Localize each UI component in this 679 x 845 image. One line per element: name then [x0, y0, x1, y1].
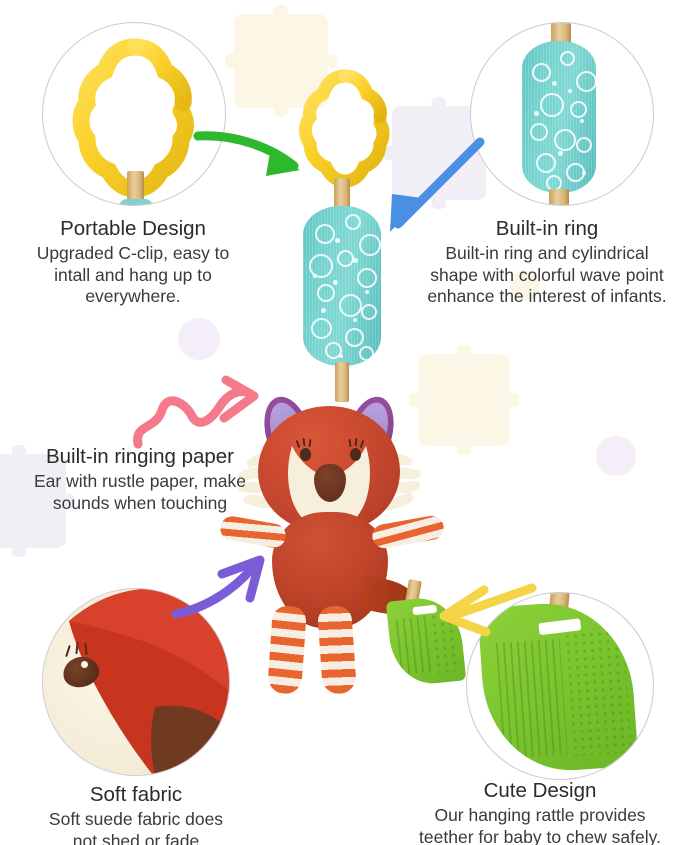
callout-title: Built-in ringing paper	[8, 444, 272, 470]
cylinder-dot	[365, 290, 369, 294]
callout-title: Portable Design	[6, 216, 260, 242]
fox-eye-left	[300, 448, 311, 461]
callout-description-line: Ear with rustle paper, make	[8, 471, 272, 493]
cylinder-bubble	[359, 234, 381, 256]
callout-description-line: Built-in ring and cylindrical	[414, 243, 679, 265]
cylinder-dot	[353, 318, 357, 322]
callout-description-line: everywhere.	[6, 286, 260, 308]
callout-description-line: Our hanging rattle provides	[404, 805, 676, 827]
cylinder-bubble	[361, 304, 377, 320]
callout-cute-design: Cute Design Our hanging rattle provides …	[404, 778, 676, 845]
callout-description-line: sounds when touching	[8, 493, 272, 515]
callout-soft-fabric: Soft fabric Soft suede fabric does not s…	[10, 782, 262, 845]
cylinder-bubble	[339, 294, 362, 317]
cylinder-dot	[339, 354, 343, 358]
cylinder-bubble	[311, 318, 332, 339]
callout-title: Cute Design	[404, 778, 676, 804]
callout-title: Built-in ring	[414, 216, 679, 242]
callout-description-line: Upgraded C-clip, easy to	[6, 243, 260, 265]
arrow-purple-soft-fabric	[172, 552, 280, 624]
fox-eye-right	[350, 448, 361, 461]
cylinder-dot	[353, 258, 358, 263]
center-product-assembly	[0, 0, 679, 845]
callout-title: Soft fabric	[10, 782, 262, 808]
callout-description-line: Soft suede fabric does	[10, 809, 262, 831]
arrow-yellow-cute-design	[436, 582, 540, 644]
cylinder-bubble	[359, 346, 374, 361]
cylinder-dot	[333, 280, 338, 285]
cylinder-bubble	[345, 214, 361, 230]
callout-built-in-ring: Built-in ring Built-in ring and cylindri…	[414, 216, 679, 308]
fox-leg-right	[317, 605, 357, 695]
cylinder-dot	[321, 308, 326, 313]
cylinder-dot	[313, 274, 317, 278]
product-infographic: Portable Design Upgraded C-clip, easy to…	[0, 0, 679, 845]
cylinder-bubble	[337, 250, 354, 267]
arrow-green-portable-design	[192, 118, 318, 184]
cylinder-bubble	[315, 224, 335, 244]
leaf-rib-texture	[396, 616, 434, 675]
teal-cylinder	[303, 206, 381, 366]
callout-description-line: shape with colorful wave point	[414, 265, 679, 287]
callout-description-line: intall and hang up to	[6, 265, 260, 287]
callout-built-in-ringing-paper: Built-in ringing paper Ear with rustle p…	[8, 444, 272, 514]
callout-portable-design: Portable Design Upgraded C-clip, easy to…	[6, 216, 260, 308]
arrow-pink-ringing-paper	[128, 378, 272, 452]
cylinder-bubble	[317, 284, 335, 302]
callout-description-line: not shed or fade	[10, 831, 262, 845]
cylinder-dot	[335, 238, 340, 243]
callout-description-line: teether for baby to chew safely.	[404, 827, 676, 845]
cylinder-bubble	[345, 328, 364, 347]
cylinder-bubble	[357, 268, 377, 288]
callout-description-line: enhance the interest of infants.	[414, 286, 679, 308]
